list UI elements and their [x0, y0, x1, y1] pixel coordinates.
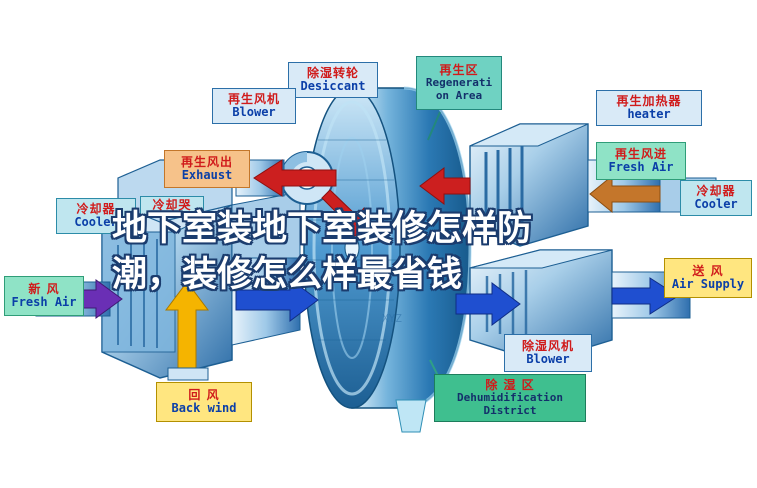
desiccant-rotor [304, 88, 470, 408]
rotor-drain [396, 400, 426, 432]
regeneration-heater-unit [470, 124, 588, 246]
diagram-canvas: XYZ 除湿转轮 Desiccant 再生风机 Blower 再生区 Regen… [0, 0, 757, 488]
rotor-watermark: XYZ [382, 312, 402, 325]
label-regen-fresh-air-cn: 再生风进 [615, 148, 667, 161]
label-regeneration-area-en1: Regenerati [426, 77, 492, 89]
label-regeneration-area-en2: on Area [436, 90, 482, 102]
label-desiccant-rotor-en: Desiccant [300, 80, 365, 93]
label-regeneration-heater-en: heater [627, 108, 670, 121]
label-regeneration-blower-en: Blower [232, 106, 275, 119]
label-regeneration-blower-cn: 再生风机 [228, 93, 280, 106]
label-dehumidify-blower-en: Blower [526, 353, 569, 366]
label-dehumid-district-en2: District [484, 405, 537, 417]
label-regeneration-area: 再生区 Regenerati on Area [416, 56, 502, 110]
label-dehumidify-blower: 除湿风机 Blower [504, 334, 592, 372]
label-cooler-left-en: Cooler [74, 216, 117, 229]
label-dehumid-district-cn: 除 湿 区 [485, 379, 534, 392]
label-back-wind: 回 风 Back wind [156, 382, 252, 422]
label-exhaust-cn: 再生风出 [181, 156, 233, 169]
label-fresh-air-en: Fresh Air [11, 296, 76, 309]
label-dehumid-district-en1: Dehumidification [457, 392, 563, 404]
label-regeneration-area-cn: 再生区 [439, 64, 478, 77]
label-air-supply: 送 风 Air Supply [664, 258, 752, 298]
center-lower-duct [232, 192, 300, 345]
label-dehumidification-district: 除 湿 区 Dehumidification District [434, 374, 586, 422]
label-desiccant-rotor: 除湿转轮 Desiccant [288, 62, 378, 98]
label-desiccant-rotor-cn: 除湿转轮 [307, 67, 359, 80]
label-back-wind-en: Back wind [171, 402, 236, 415]
label-regeneration-heater-cn: 再生加热器 [616, 95, 681, 108]
label-cooler-right-cn: 冷却器 [696, 185, 735, 198]
label-regeneration-blower: 再生风机 Blower [212, 88, 296, 124]
back-wind-duct [168, 368, 208, 380]
label-regeneration-heater: 再生加热器 heater [596, 90, 702, 126]
label-regen-fresh-air-en: Fresh Air [608, 161, 673, 174]
label-regeneration-fresh-air: 再生风进 Fresh Air [596, 142, 686, 180]
label-air-supply-en: Air Supply [672, 278, 744, 291]
label-cooler-right-en: Cooler [694, 198, 737, 211]
label-dehumidify-blower-cn: 除湿风机 [522, 340, 574, 353]
label-exhaust-en: Exhaust [182, 169, 233, 182]
label-fresh-air: 新 风 Fresh Air [4, 276, 84, 316]
label-cooling-water: 冷却哭 [140, 196, 204, 216]
label-fresh-air-cn: 新 风 [28, 283, 59, 296]
label-cooling-water-cn: 冷却哭 [152, 199, 191, 212]
dehumidifier-schematic-artwork: XYZ [0, 0, 757, 488]
label-cooler-left: 冷却器 Cooler [56, 198, 136, 234]
label-cooler-left-cn: 冷却器 [76, 203, 115, 216]
label-cooler-right: 冷却器 Cooler [680, 180, 752, 216]
label-back-wind-cn: 回 风 [188, 389, 219, 402]
label-exhaust: 再生风出 Exhaust [164, 150, 250, 188]
label-air-supply-cn: 送 风 [692, 265, 723, 278]
